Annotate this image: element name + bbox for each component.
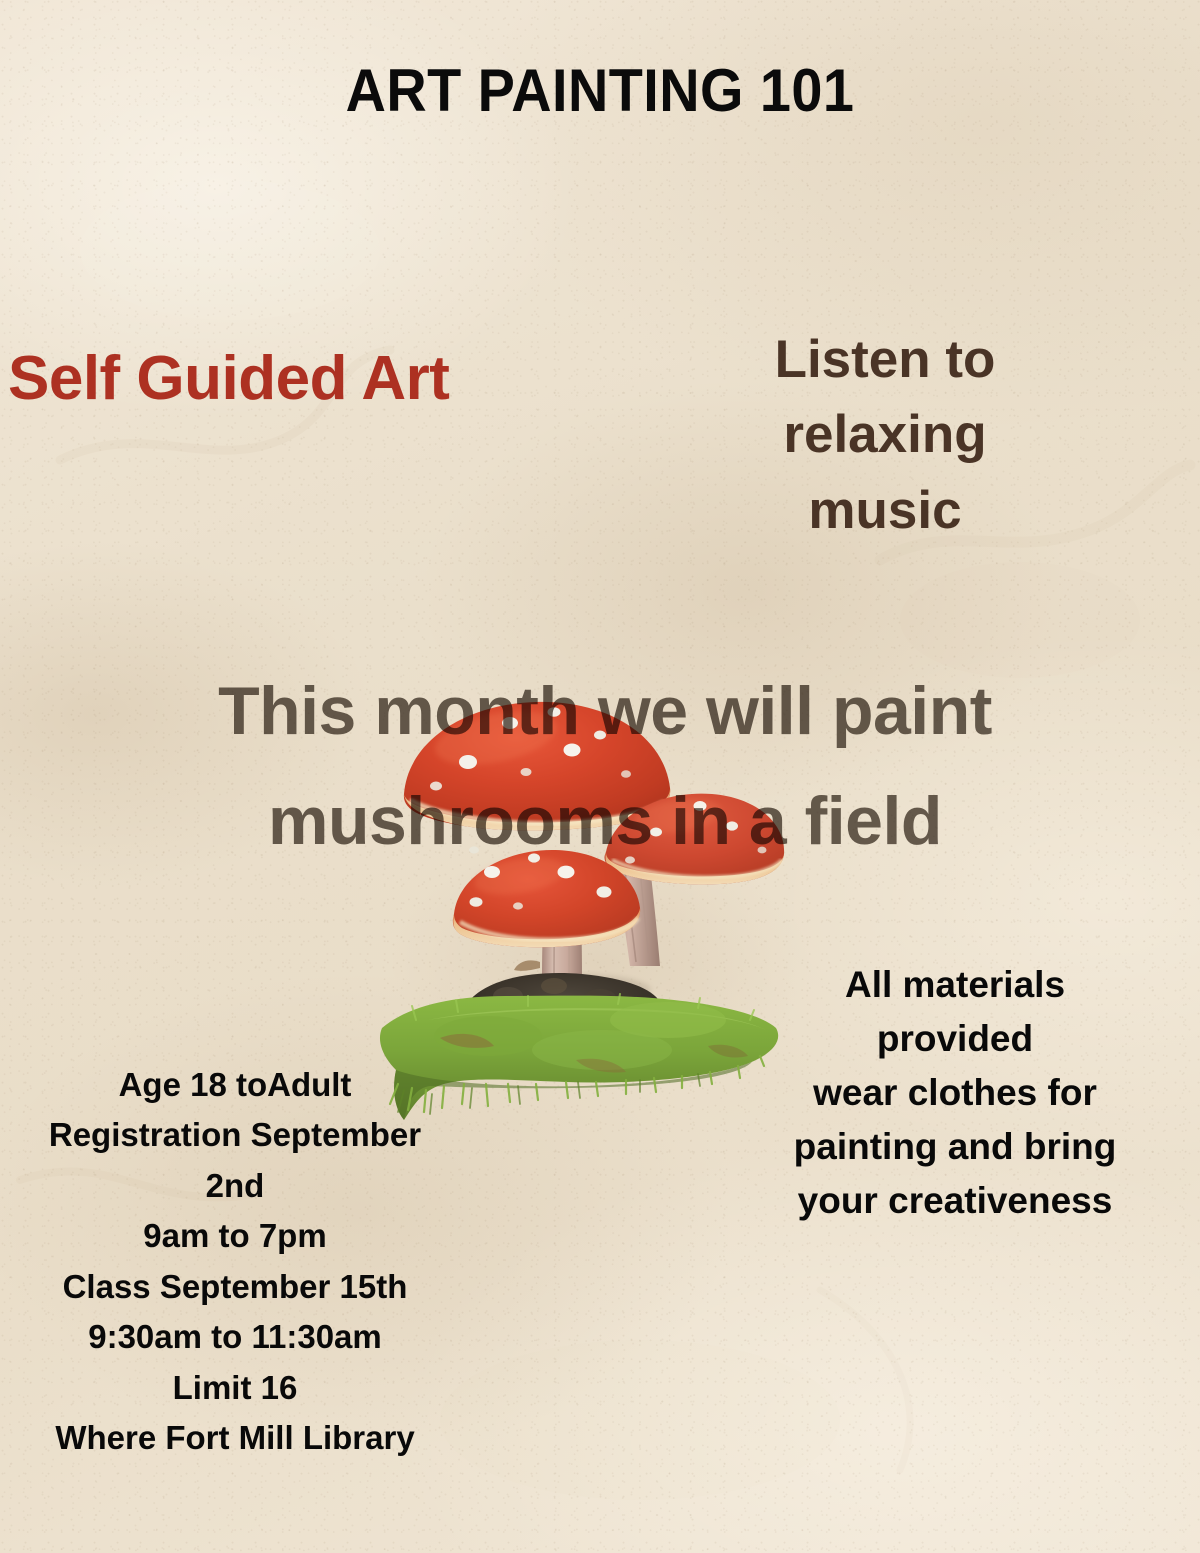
detail-line: 9am to 7pm — [0, 1211, 470, 1261]
materials-details-block: All materialsprovidedwear clothes forpai… — [730, 958, 1180, 1228]
detail-line: Registration September — [0, 1110, 470, 1160]
detail-line: your creativeness — [730, 1174, 1180, 1228]
detail-line: Limit 16 — [0, 1363, 470, 1413]
detail-line: All materials — [730, 958, 1180, 1012]
detail-line: Class September 15th — [0, 1262, 470, 1312]
flyer-poster: ART PAINTING 101 Self Guided Art Listen … — [0, 0, 1200, 1553]
listen-to-relaxing-music-heading: Listen to relaxing music — [700, 322, 1070, 548]
self-guided-art-heading: Self Guided Art — [8, 343, 449, 414]
detail-line: Where Fort Mill Library — [0, 1413, 470, 1463]
detail-line: 9:30am to 11:30am — [0, 1312, 470, 1362]
registration-details-block: Age 18 toAdultRegistration September2nd9… — [0, 1060, 470, 1464]
monthly-theme-headline: This month we will paint mushrooms in a … — [60, 656, 1150, 876]
detail-line: Age 18 toAdult — [0, 1060, 470, 1110]
detail-line: 2nd — [0, 1161, 470, 1211]
detail-line: provided — [730, 1012, 1180, 1066]
detail-line: painting and bring — [730, 1120, 1180, 1174]
detail-line: wear clothes for — [730, 1066, 1180, 1120]
page-title: ART PAINTING 101 — [42, 56, 1158, 125]
